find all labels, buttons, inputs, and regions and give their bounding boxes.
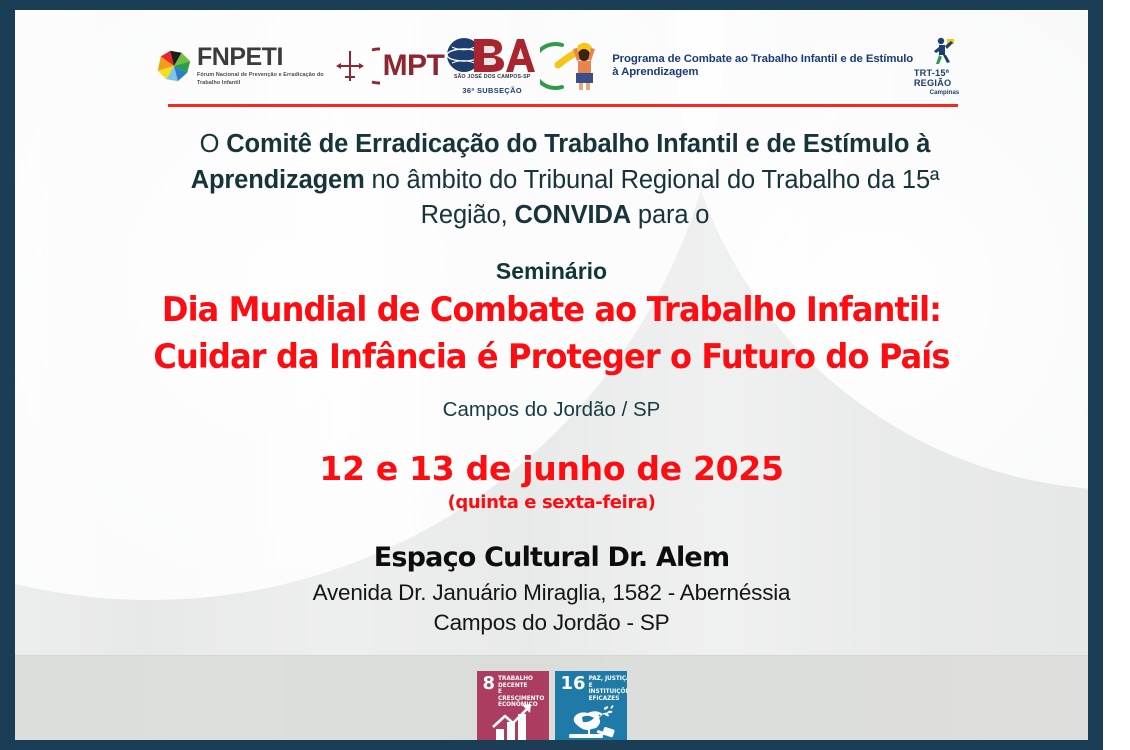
poster-right-margin bbox=[1103, 0, 1130, 750]
logo-fnpeti-subtitle: Fórum Nacional de Prevenção e Erradicaçã… bbox=[197, 72, 328, 87]
red-divider-rule bbox=[168, 104, 958, 107]
event-date-note: (quinta e sexta-feira) bbox=[15, 492, 1088, 513]
event-date: 12 e 13 de junho de 2025 bbox=[15, 449, 1088, 488]
sdg-badge-8-number: 8 bbox=[483, 676, 496, 692]
event-headline-line-1: Dia Mundial de Combate ao Trabalho Infan… bbox=[39, 287, 1064, 334]
sponsor-logo-row: FNPETI Fórum Nacional de Prevenção e Err… bbox=[155, 32, 975, 100]
invite-convida: CONVIDA bbox=[514, 201, 631, 229]
sdg-badge-8-label-line-1: TRABALHO DECENTE bbox=[498, 676, 548, 689]
pinwheel-icon bbox=[155, 47, 193, 85]
sdg-badge-16-label-line-1: PAZ, JUSTIÇA E bbox=[589, 676, 627, 689]
sdg-badge-16-label-line-3: EFICAZES bbox=[589, 696, 627, 703]
sdg-badge-16-label-line-2: INSTITUIÇÕES bbox=[589, 689, 627, 696]
logo-fnpeti: FNPETI Fórum Nacional de Prevenção e Err… bbox=[155, 45, 328, 87]
venue-address: Avenida Dr. Januário Miraglia, 1582 - Ab… bbox=[15, 578, 1088, 638]
logo-oab: SÃO JOSÉ DOS CAMPOS-SP 36ª SUBSEÇÃO bbox=[444, 37, 540, 95]
growth-chart-arrow-icon bbox=[477, 703, 549, 740]
sdg-badge-8: 8 TRABALHO DECENTE E CRESCIMENTO ECONÔMI… bbox=[477, 671, 549, 740]
event-headline: Dia Mundial de Combate ao Trabalho Infan… bbox=[39, 287, 1064, 381]
logo-mpt: MPT bbox=[328, 46, 445, 86]
logo-trt15: TRT-15ª REGIÃO Campinas bbox=[914, 36, 975, 96]
invite-tail: para o bbox=[631, 201, 709, 229]
sdg-badge-16: 16 PAZ, JUSTIÇA E INSTITUIÇÕES EFICAZES bbox=[555, 671, 627, 740]
venue-address-line-1: Avenida Dr. Januário Miraglia, 1582 - Ab… bbox=[15, 578, 1088, 608]
venue-name: Espaço Cultural Dr. Alem bbox=[15, 542, 1088, 573]
logo-trt15-name: TRT-15ª REGIÃO bbox=[914, 68, 975, 88]
event-poster: FNPETI Fórum Nacional de Prevenção e Err… bbox=[0, 0, 1130, 750]
event-headline-line-2: Cuidar da Infância é Proteger o Futuro d… bbox=[39, 334, 1064, 381]
trt-runner-icon bbox=[930, 36, 958, 66]
sdg-badge-16-header: 16 PAZ, JUSTIÇA E INSTITUIÇÕES EFICAZES bbox=[561, 676, 627, 702]
invitation-paragraph: O Comitê de Erradicação do Trabalho Infa… bbox=[165, 127, 965, 234]
sword-arc-icon bbox=[328, 46, 380, 86]
oab-globe-icon bbox=[444, 37, 540, 75]
logo-trt15-subtitle: Campinas bbox=[930, 89, 960, 96]
sdg-badge-16-number: 16 bbox=[561, 676, 586, 692]
venue-address-line-2: Campos do Jordão - SP bbox=[15, 608, 1088, 638]
sdg-badge-row: 8 TRABALHO DECENTE E CRESCIMENTO ECONÔMI… bbox=[15, 671, 1088, 740]
logo-oab-subsection: 36ª SUBSEÇÃO bbox=[462, 86, 522, 95]
logo-mpt-name: MPT bbox=[383, 49, 445, 83]
invite-lead: O bbox=[200, 130, 227, 158]
child-painting-icon bbox=[540, 41, 606, 91]
logo-programa-combate: Programa de Combate ao Trabalho Infantil… bbox=[540, 41, 914, 91]
logo-fnpeti-name: FNPETI bbox=[197, 45, 328, 70]
logo-oab-subtitle: SÃO JOSÉ DOS CAMPOS-SP bbox=[454, 74, 530, 80]
event-city: Campos do Jordão / SP bbox=[15, 398, 1088, 422]
dove-gavel-icon bbox=[555, 703, 627, 740]
poster-canvas: FNPETI Fórum Nacional de Prevenção e Err… bbox=[15, 10, 1088, 740]
sdg-badge-16-label: PAZ, JUSTIÇA E INSTITUIÇÕES EFICAZES bbox=[589, 676, 627, 702]
event-kind: Seminário bbox=[15, 258, 1088, 285]
poster-content: FNPETI Fórum Nacional de Prevenção e Err… bbox=[15, 10, 1088, 740]
logo-programa-combate-name: Programa de Combate ao Trabalho Infantil… bbox=[612, 53, 914, 80]
sdg-badge-8-label-line-2: E CRESCIMENTO bbox=[498, 689, 548, 702]
